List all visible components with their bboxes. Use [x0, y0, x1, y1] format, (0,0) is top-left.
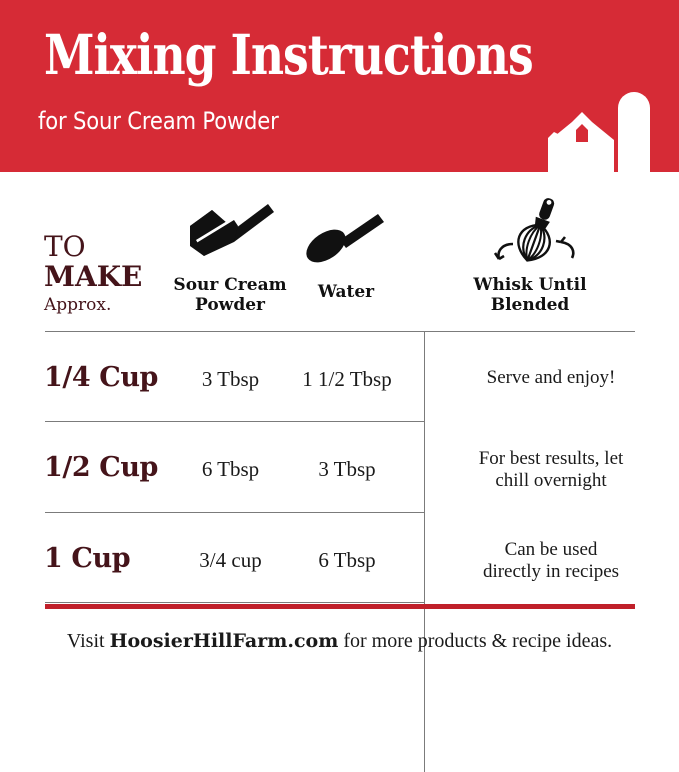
column-header-water: Water: [292, 282, 400, 302]
table-cell-water: 6 Tbsp: [293, 548, 401, 572]
column-header-line1: Whisk Until: [440, 275, 620, 295]
table-row-amount: 1/2 Cup: [44, 453, 158, 483]
table-row-amount: 1/4 Cup: [44, 363, 158, 393]
notes-column-divider: [424, 332, 425, 772]
table-cell-note: For best results, let chill overnight: [436, 448, 666, 492]
note-line1: Can be used: [436, 539, 666, 561]
table-cell-water: 1 1/2 Tbsp: [293, 367, 401, 391]
column-header-line2: Blended: [440, 295, 620, 315]
whisk-icon: [487, 194, 587, 268]
mixing-table: TO MAKE Approx. Sour Cream Powder: [0, 172, 679, 609]
table-cell-powder: 6 Tbsp: [163, 457, 298, 481]
column-header-line1: Water: [292, 282, 400, 302]
table-row-amount: 1 Cup: [44, 544, 130, 574]
measuring-scoop-icon: [182, 200, 278, 266]
table-cell-note: Serve and enjoy!: [436, 367, 666, 389]
column-header-line1: Sour Cream: [160, 275, 300, 295]
footer-brand-link[interactable]: HoosierHillFarm.com: [110, 630, 339, 652]
row-divider: [45, 512, 425, 513]
table-header-divider: [45, 331, 635, 332]
table-cell-powder: 3 Tbsp: [163, 367, 298, 391]
table-cell-water: 3 Tbsp: [293, 457, 401, 481]
to-make-label-line2: MAKE: [44, 262, 164, 292]
note-line1: For best results, let: [436, 448, 666, 470]
note-line2: directly in recipes: [436, 561, 666, 583]
to-make-label-line1: TO: [44, 232, 164, 262]
row-divider: [45, 602, 425, 603]
note-line1: Serve and enjoy!: [436, 367, 666, 389]
to-make-column-header: TO MAKE Approx.: [44, 232, 164, 316]
to-make-approx-label: Approx.: [44, 294, 164, 316]
row-divider: [45, 421, 425, 422]
spoon-icon: [300, 206, 392, 268]
barn-silo-icon: [520, 78, 679, 172]
footer-text-before: Visit: [67, 630, 110, 652]
footer-text-after: for more products & recipe ideas.: [338, 630, 612, 652]
page-title: Mixing Instructions: [44, 26, 533, 84]
footer-text: Visit HoosierHillFarm.com for more produ…: [0, 629, 679, 653]
table-cell-note: Can be used directly in recipes: [436, 539, 666, 583]
page-subtitle: for Sour Cream Powder: [38, 107, 279, 135]
footer-divider: [45, 604, 635, 609]
note-line2: chill overnight: [436, 470, 666, 492]
column-header-line2: Powder: [160, 295, 300, 315]
header-banner: Mixing Instructions for Sour Cream Powde…: [0, 0, 679, 172]
table-cell-powder: 3/4 cup: [163, 548, 298, 572]
column-header-whisk-until-blended: Whisk Until Blended: [440, 275, 620, 315]
column-header-sour-cream-powder: Sour Cream Powder: [160, 275, 300, 315]
